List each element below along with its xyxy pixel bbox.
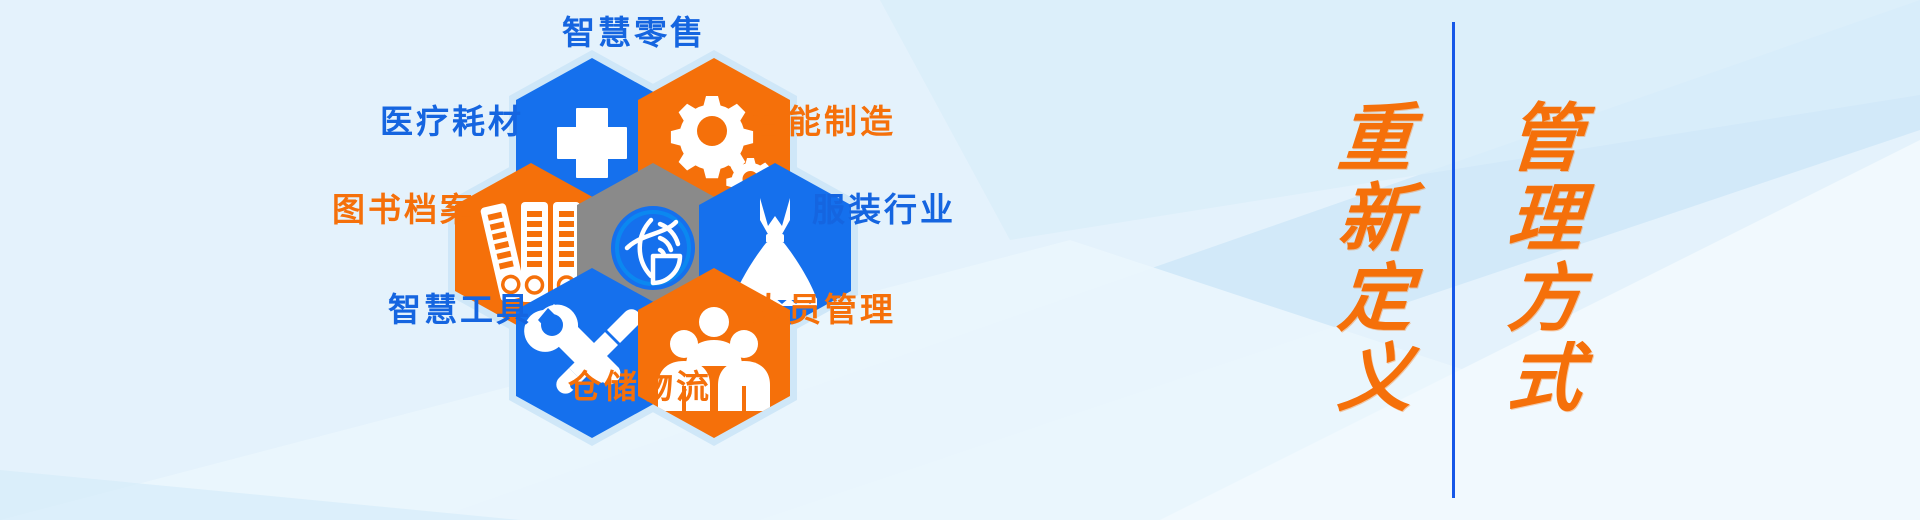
- calligraphy-char: 定: [1335, 260, 1415, 340]
- calligraphy-char: 理: [1505, 180, 1585, 260]
- label-archive: 图书档案: [332, 193, 476, 226]
- calligraphy-char: 式: [1505, 340, 1585, 420]
- calligraphy-char: 管: [1505, 100, 1585, 180]
- promo-banner: 医疗耗材 智能制造 图书档案 服装行业 智慧工具 人员管理 智慧零售 仓储物流 …: [0, 0, 1920, 520]
- calligraphy-char: 方: [1505, 260, 1585, 340]
- label-medical: 医疗耗材: [380, 105, 524, 138]
- calligraphy-block: 重 新 定 义 管 理 方 式: [1280, 0, 1700, 520]
- label-people: 人员管理: [752, 293, 896, 326]
- calligraphy-char: 义: [1335, 340, 1415, 420]
- hexagon-grid: [0, 0, 1150, 520]
- label-apparel: 服装行业: [812, 193, 956, 226]
- calligraphy-column-left: 重 新 定 义: [1300, 0, 1450, 520]
- label-tools: 智慧工具: [388, 293, 532, 326]
- calligraphy-char: 重: [1335, 100, 1415, 180]
- hexagon-cluster: 医疗耗材 智能制造 图书档案 服装行业 智慧工具 人员管理 智慧零售 仓储物流: [0, 0, 1150, 520]
- label-manufacturing: 智能制造: [752, 105, 896, 138]
- calligraphy-char: 新: [1335, 180, 1415, 260]
- calligraphy-divider: [1452, 22, 1455, 498]
- calligraphy-column-right: 管 理 方 式: [1470, 0, 1620, 520]
- label-warehouse-logistics: 仓储物流: [568, 370, 712, 403]
- company-logo-icon: [613, 208, 693, 288]
- label-smart-retail: 智慧零售: [562, 16, 706, 49]
